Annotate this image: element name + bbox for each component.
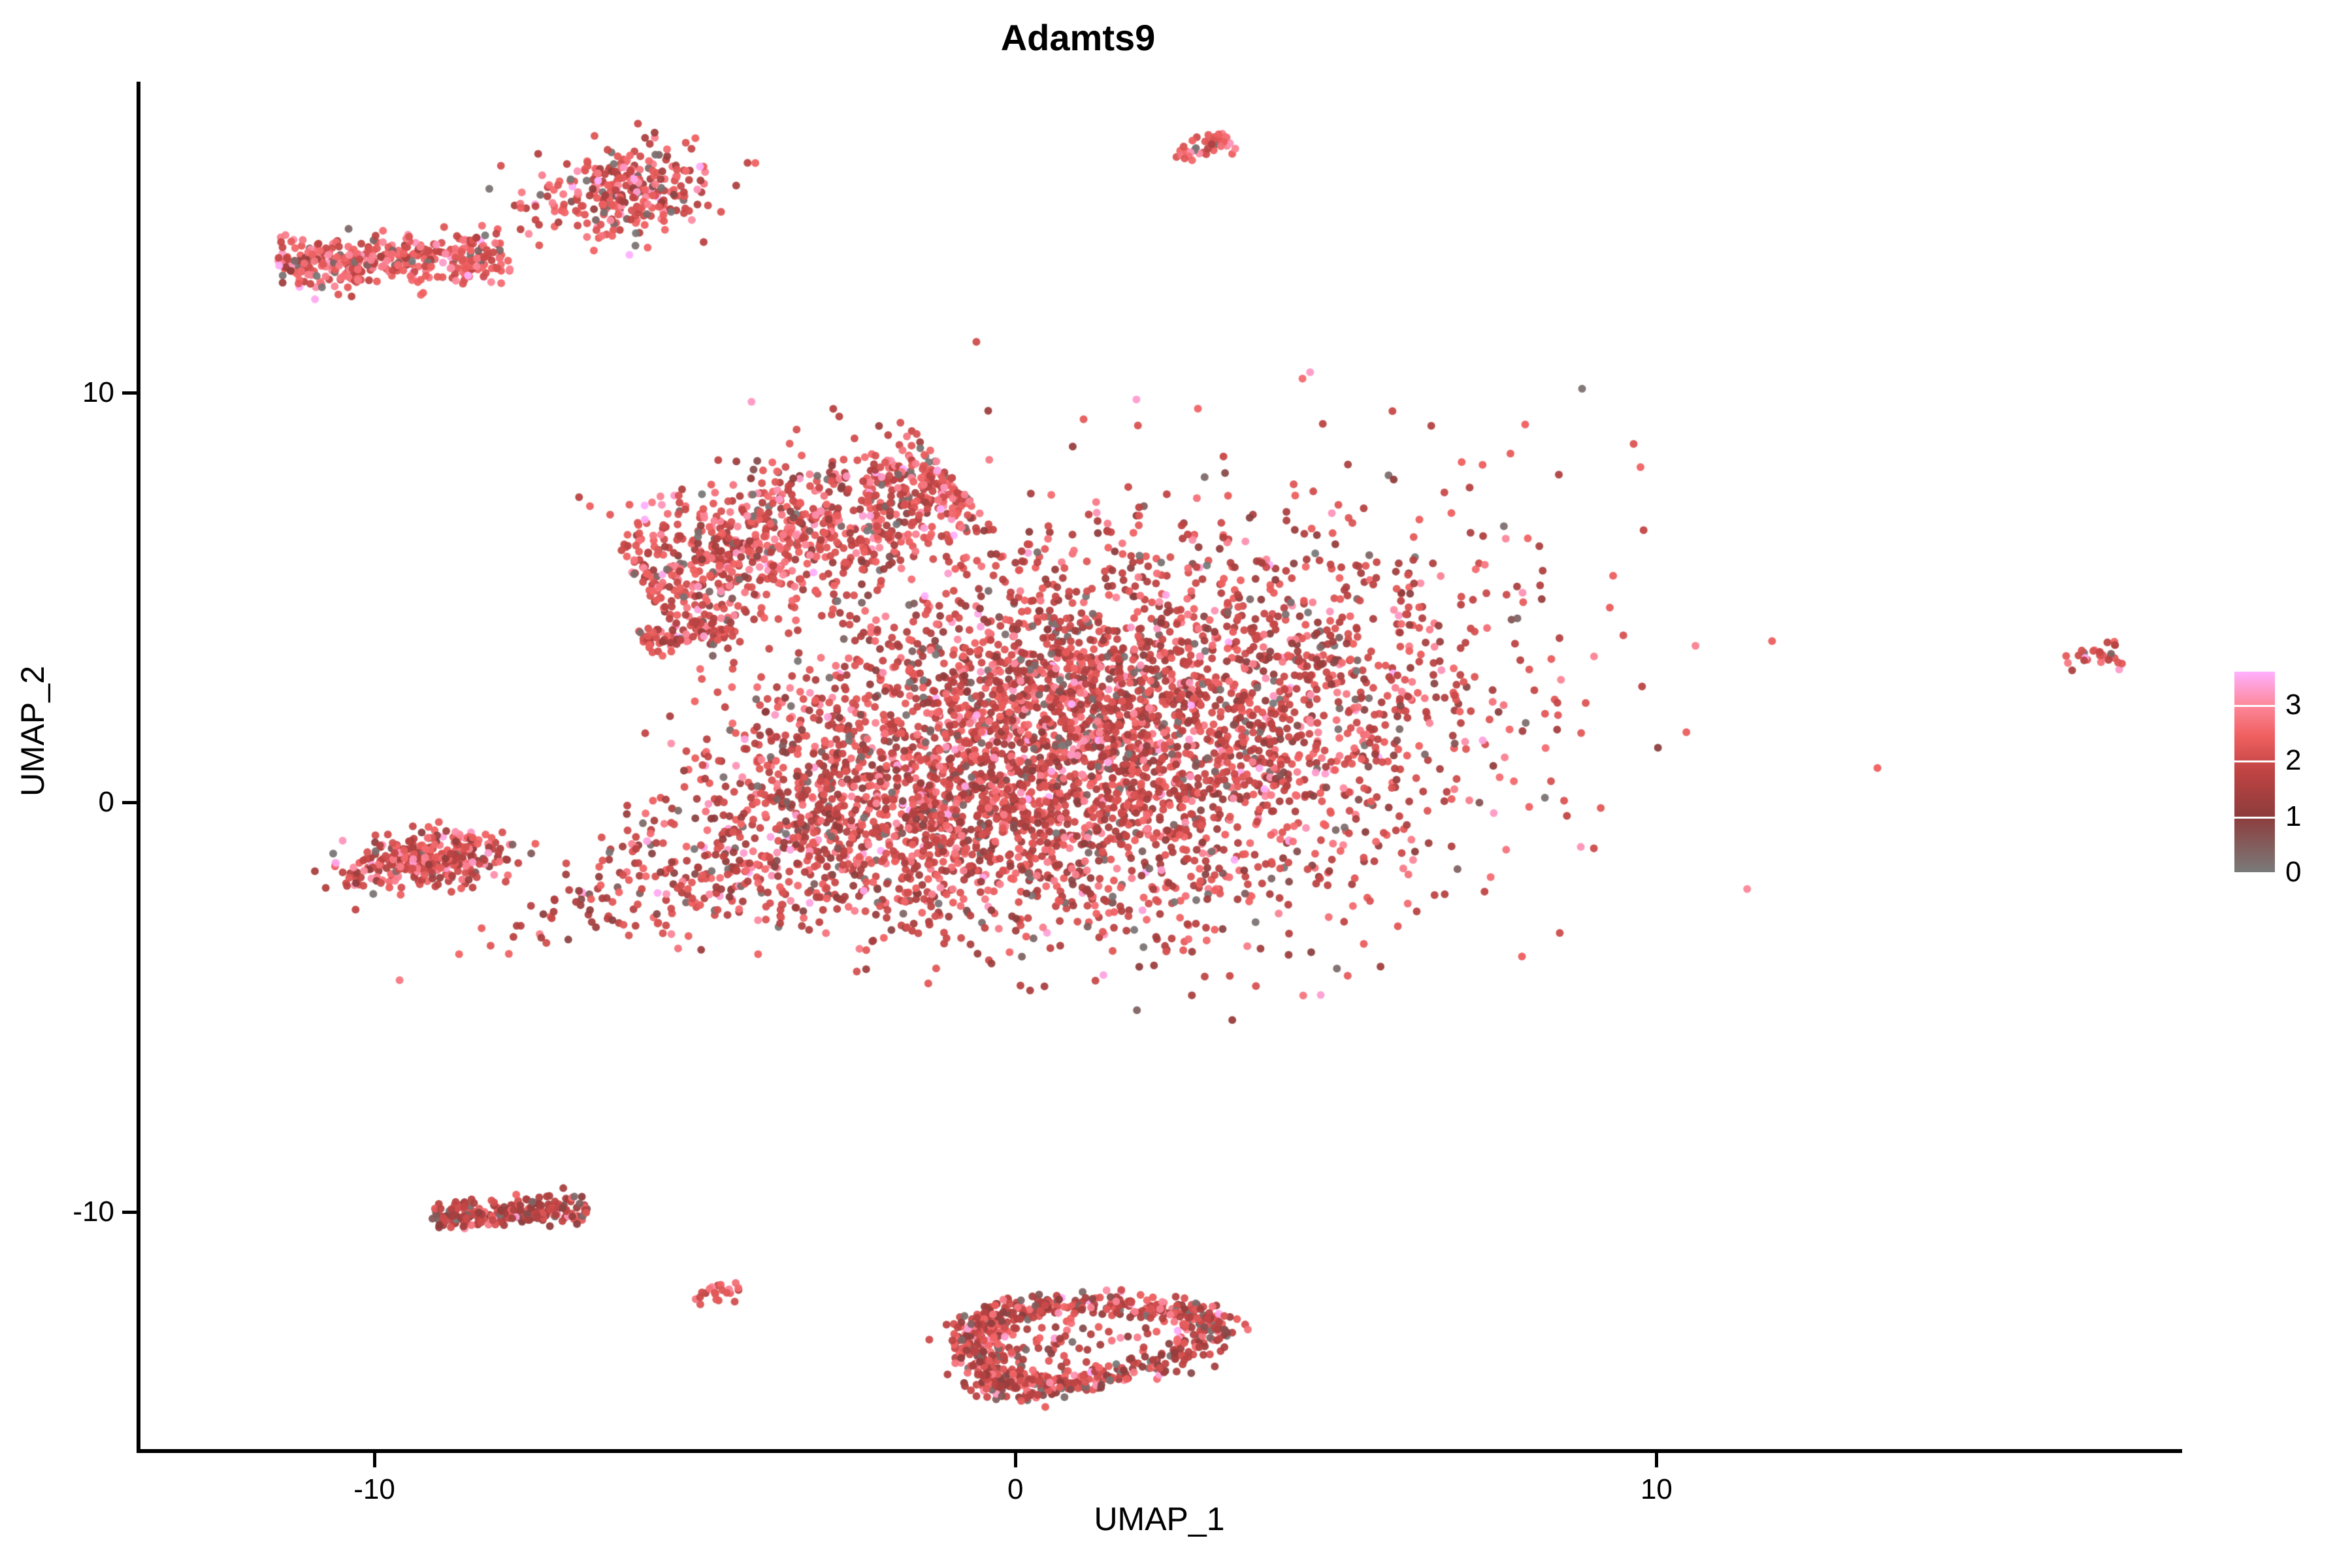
x-tick-mark: [373, 1453, 376, 1467]
colorbar-legend: 3210: [2234, 666, 2345, 882]
x-tick-mark: [1655, 1453, 1658, 1467]
colorbar-gradient: [2234, 672, 2275, 872]
scatter-canvas: [137, 82, 2182, 1454]
x-tick-mark: [1014, 1453, 1017, 1467]
colorbar-tick-label: 2: [2285, 746, 2301, 775]
y-axis-line: [137, 82, 140, 1452]
colorbar-tick-mark: [2234, 705, 2275, 707]
scatter-plot-panel: [137, 82, 2182, 1454]
colorbar-tick-mark: [2234, 760, 2275, 762]
y-tick-mark: [122, 1211, 137, 1214]
colorbar-tick-mark: [2234, 817, 2275, 819]
x-tick-label: 10: [1641, 1475, 1673, 1504]
y-tick-mark: [122, 391, 137, 395]
y-axis-title: UMAP_2: [16, 45, 49, 1417]
x-tick-label: 0: [1007, 1475, 1023, 1504]
x-axis-title: UMAP_1: [137, 1503, 2182, 1535]
x-tick-label: -10: [353, 1475, 395, 1504]
y-tick-mark: [122, 801, 137, 804]
x-axis-line: [137, 1449, 2182, 1453]
colorbar-tick-mark: [2234, 872, 2275, 874]
colorbar-tick-label: 0: [2285, 858, 2301, 887]
page-title: Adamts9: [0, 20, 2156, 56]
colorbar-tick-label: 1: [2285, 802, 2301, 831]
colorbar-tick-label: 3: [2285, 691, 2301, 719]
figure-root: Adamts9 100-10 -10010 UMAP_1 UMAP_2 3210: [0, 0, 2352, 1568]
